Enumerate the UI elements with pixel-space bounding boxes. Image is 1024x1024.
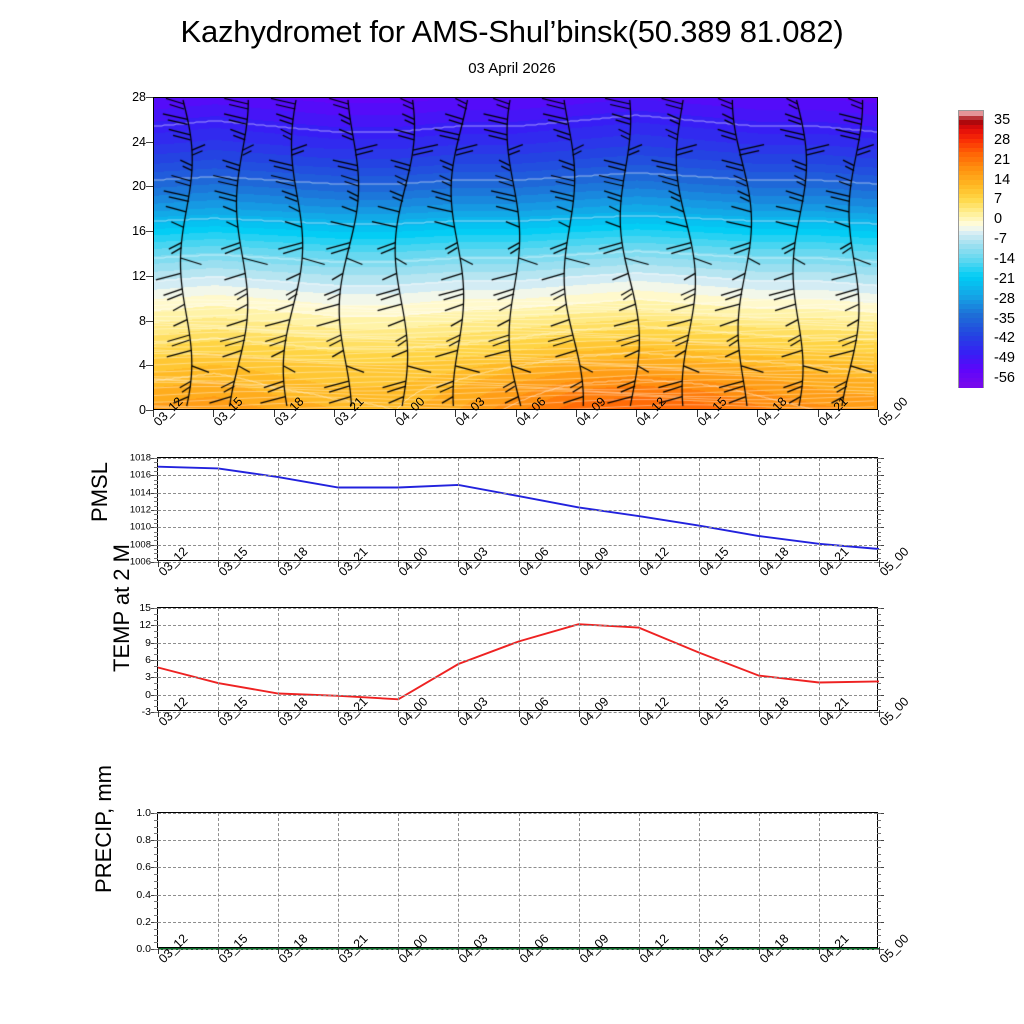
y-tick-minor (154, 881, 158, 882)
y-tick-minor-right (877, 480, 881, 481)
grid-line-v (819, 813, 820, 947)
grid-line-h (158, 510, 877, 511)
y-tick-minor (154, 527, 158, 528)
y-tick-minor-right (877, 471, 881, 472)
x-tick-label-04_09: 04_09 (574, 394, 608, 428)
grid-line-v (338, 458, 339, 560)
y-tick-minor (154, 510, 158, 511)
y-tick-minor (154, 929, 158, 930)
y-tick-minor-right (877, 813, 881, 814)
grid-line-v (218, 608, 219, 710)
grid-line-h (158, 660, 877, 661)
x-tick-label-04_00: 04_00 (393, 394, 427, 428)
grid-line-h (158, 922, 877, 923)
y-tick-minor (154, 683, 158, 684)
grid-line-h (158, 840, 877, 841)
y-tick-label-28: 28 (132, 90, 146, 104)
y-tick-minor (154, 648, 158, 649)
grid-line-h (158, 493, 877, 494)
y-tick-minor (154, 813, 158, 814)
y-tick-mark (146, 97, 153, 98)
y-tick-mark (146, 321, 153, 322)
y-tick-label-1012: 1012 (130, 505, 151, 516)
y-tick-minor (154, 637, 158, 638)
y-tick-minor-right (877, 895, 881, 896)
y-tick-minor-right (877, 514, 881, 515)
y-tick-minor-right (877, 549, 881, 550)
grid-line-v (278, 608, 279, 710)
y-tick-minor (154, 625, 158, 626)
temperature-colorbar (958, 110, 984, 388)
grid-line-h (158, 695, 877, 696)
grid-line-v (759, 608, 760, 710)
grid-line-v (699, 608, 700, 710)
y-tick-minor-right (877, 867, 881, 868)
y-tick-minor-right (877, 643, 881, 644)
grid-line-v (458, 458, 459, 560)
y-tick-minor (154, 540, 158, 541)
temp-axis-label: TEMP at 2 M (109, 544, 135, 672)
y-tick-minor (154, 497, 158, 498)
y-tick-minor (154, 631, 158, 632)
y-tick-minor-right (877, 833, 881, 834)
colorbar-tick-minus49: -49 (994, 350, 1015, 366)
colorbar-tick-7: 7 (994, 191, 1002, 207)
y-tick-minor-right (877, 462, 881, 463)
y-tick-label-1p0: 1.0 (136, 807, 151, 819)
grid-line-h (158, 608, 877, 609)
y-tick-label-16: 16 (132, 224, 146, 238)
y-tick-minor (154, 643, 158, 644)
grid-line-v (458, 608, 459, 710)
colorbar-tick-minus28: -28 (994, 291, 1015, 307)
x-tick-label-04_12: 04_12 (634, 394, 668, 428)
grid-line-v (759, 458, 760, 560)
y-tick-label-0p8: 0.8 (136, 834, 151, 846)
y-tick-minor-right (877, 493, 881, 494)
y-tick-minor-right (877, 683, 881, 684)
y-tick-minor (154, 935, 158, 936)
grid-line-v (398, 608, 399, 710)
y-tick-label-1018: 1018 (130, 453, 151, 464)
grid-line-v (278, 813, 279, 947)
y-tick-minor-right (877, 527, 881, 528)
grid-line-v (579, 458, 580, 560)
y-tick-label-4: 4 (139, 358, 146, 372)
y-tick-minor-right (877, 519, 881, 520)
y-tick-minor-right (877, 672, 881, 673)
y-tick-minor-right (877, 536, 881, 537)
y-tick-minor-right (877, 648, 881, 649)
y-tick-minor (154, 475, 158, 476)
y-tick-minor (154, 620, 158, 621)
y-tick-mark (146, 410, 153, 411)
y-tick-minor (154, 922, 158, 923)
y-tick-label-0p4: 0.4 (136, 889, 151, 901)
y-tick-label-0: 0 (145, 689, 151, 701)
y-tick-minor (154, 847, 158, 848)
y-tick-minor-right (877, 553, 881, 554)
y-tick-minor-right (877, 458, 881, 459)
y-tick-label-3: 3 (145, 671, 151, 683)
y-tick-label-9: 9 (145, 637, 151, 649)
y-tick-label-1016: 1016 (130, 470, 151, 481)
y-tick-mark (146, 186, 153, 187)
grid-line-h (158, 643, 877, 644)
y-tick-minor (154, 523, 158, 524)
grid-line-h (158, 625, 877, 626)
grid-line-h (158, 677, 877, 678)
y-tick-mark (146, 231, 153, 232)
y-tick-minor-right (877, 614, 881, 615)
grid-line-v (398, 813, 399, 947)
y-tick-minor-right (877, 915, 881, 916)
y-tick-minor-right (877, 558, 881, 559)
grid-line-v (639, 813, 640, 947)
y-tick-label-1010: 1010 (130, 522, 151, 533)
y-tick-mark (146, 142, 153, 143)
y-tick-label-minus3: -3 (142, 706, 151, 718)
y-tick-minor (154, 908, 158, 909)
grid-line-v (519, 608, 520, 710)
y-tick-minor (154, 484, 158, 485)
y-tick-minor (154, 820, 158, 821)
colorbar-tick-minus21: -21 (994, 271, 1015, 287)
x-tick-label-03_21: 03_21 (332, 394, 366, 428)
colorbar-tick-14: 14 (994, 172, 1010, 188)
y-tick-minor (154, 514, 158, 515)
y-tick-minor (154, 901, 158, 902)
y-tick-label-0p2: 0.2 (136, 916, 151, 928)
temp-plot[interactable]: -30369121503_1203_1503_1803_2104_0004_03… (157, 607, 878, 711)
y-tick-minor-right (877, 881, 881, 882)
cross-section-axes: 048121620242803_1203_1503_1803_2104_0004… (153, 97, 878, 410)
y-tick-minor (154, 614, 158, 615)
y-tick-minor-right (877, 901, 881, 902)
grid-line-h (158, 475, 877, 476)
y-tick-label-0: 0 (139, 403, 146, 417)
y-tick-minor-right (877, 654, 881, 655)
grid-line-v (278, 458, 279, 560)
x-tick-label-04_03: 04_03 (453, 394, 487, 428)
grid-line-v (819, 608, 820, 710)
y-tick-minor-right (877, 908, 881, 909)
y-tick-label-1014: 1014 (130, 487, 151, 498)
y-tick-label-24: 24 (132, 135, 146, 149)
colorbar-tick-minus14: -14 (994, 251, 1015, 267)
y-tick-minor-right (877, 929, 881, 930)
pmsl-axis-label: PMSL (87, 462, 113, 522)
y-tick-minor (154, 700, 158, 701)
y-tick-minor-right (877, 935, 881, 936)
y-tick-minor (154, 833, 158, 834)
y-tick-minor (154, 506, 158, 507)
colorbar-tick-0: 0 (994, 211, 1002, 227)
colorbar-tick-minus56: -56 (994, 370, 1015, 386)
y-tick-minor (154, 480, 158, 481)
x-tick-label-04_21: 04_21 (816, 394, 850, 428)
y-tick-label-12: 12 (132, 269, 146, 283)
y-tick-mark (146, 365, 153, 366)
y-tick-minor-right (877, 847, 881, 848)
y-tick-minor (154, 501, 158, 502)
y-tick-minor (154, 519, 158, 520)
y-tick-minor-right (877, 532, 881, 533)
y-tick-label-20: 20 (132, 179, 146, 193)
y-tick-minor (154, 695, 158, 696)
y-tick-mark (146, 276, 153, 277)
y-tick-minor (154, 545, 158, 546)
precip-plot[interactable]: 0.00.20.40.60.81.003_1203_1503_1803_2104… (157, 812, 878, 948)
y-tick-minor (154, 861, 158, 862)
y-tick-minor-right (877, 666, 881, 667)
y-tick-minor-right (877, 523, 881, 524)
grid-line-v (759, 813, 760, 947)
y-tick-minor (154, 549, 158, 550)
y-tick-minor (154, 672, 158, 673)
grid-line-h (158, 813, 877, 814)
colorbar-tick-35: 35 (994, 112, 1010, 128)
y-tick-label-8: 8 (139, 314, 146, 328)
y-tick-minor-right (877, 827, 881, 828)
y-tick-minor-right (877, 942, 881, 943)
x-tick-label-04_06: 04_06 (514, 394, 548, 428)
grid-line-h (158, 458, 877, 459)
y-tick-minor-right (877, 861, 881, 862)
colorbar-tick-28: 28 (994, 132, 1010, 148)
page-title: Kazhydromet for AMS-Shul’binsk(50.389 81… (0, 14, 1024, 50)
y-tick-minor-right (877, 497, 881, 498)
y-tick-minor (154, 467, 158, 468)
y-tick-minor (154, 458, 158, 459)
grid-line-h (158, 545, 877, 546)
y-tick-minor-right (877, 510, 881, 511)
x-tick-label-03_15: 03_15 (211, 394, 245, 428)
grid-line-v (579, 813, 580, 947)
x-tick-label-05_00: 05_00 (876, 394, 910, 428)
x-tick-label-04_15: 04_15 (695, 394, 729, 428)
x-tick-label-03_12: 03_12 (151, 394, 185, 428)
y-tick-minor-right (877, 888, 881, 889)
grid-line-v (458, 813, 459, 947)
y-tick-minor (154, 462, 158, 463)
grid-line-v (218, 813, 219, 947)
y-tick-minor-right (877, 922, 881, 923)
y-tick-minor-right (877, 484, 881, 485)
y-tick-minor (154, 677, 158, 678)
y-tick-minor-right (877, 506, 881, 507)
y-tick-minor (154, 895, 158, 896)
grid-line-v (699, 458, 700, 560)
y-tick-minor (154, 553, 158, 554)
grid-line-v (338, 608, 339, 710)
y-tick-minor (154, 888, 158, 889)
y-tick-label-0p0: 0.0 (136, 943, 151, 955)
y-tick-minor (154, 660, 158, 661)
grid-line-v (819, 458, 820, 560)
y-tick-minor-right (877, 620, 881, 621)
grid-line-v (398, 458, 399, 560)
y-tick-minor-right (877, 545, 881, 546)
y-tick-minor (154, 706, 158, 707)
y-tick-minor-right (877, 488, 881, 489)
colorbar-tick-minus7: -7 (994, 231, 1007, 247)
page-subtitle: 03 April 2026 (0, 60, 1024, 77)
y-tick-minor-right (877, 625, 881, 626)
pmsl-plot[interactable]: 100610081010101210141016101803_1203_1503… (157, 457, 878, 561)
y-tick-minor (154, 558, 158, 559)
y-tick-minor (154, 867, 158, 868)
y-tick-minor-right (877, 467, 881, 468)
grid-line-v (218, 458, 219, 560)
grid-line-v (519, 813, 520, 947)
x-tick-label-04_18: 04_18 (755, 394, 789, 428)
y-tick-minor-right (877, 631, 881, 632)
y-tick-label-6: 6 (145, 654, 151, 666)
y-tick-minor (154, 942, 158, 943)
precip-axis-label: PRECIP, mm (91, 765, 117, 893)
y-tick-minor (154, 471, 158, 472)
y-tick-minor (154, 666, 158, 667)
y-tick-minor-right (877, 854, 881, 855)
colorbar-labels: 3528211470-7-14-21-28-35-42-49-56 (994, 110, 1024, 388)
y-tick-minor (154, 493, 158, 494)
y-tick-minor-right (877, 874, 881, 875)
x-tick-label-03_18: 03_18 (272, 394, 306, 428)
grid-line-h (158, 527, 877, 528)
grid-line-h (158, 867, 877, 868)
grid-line-v (699, 813, 700, 947)
y-tick-minor (154, 532, 158, 533)
y-tick-minor-right (877, 706, 881, 707)
y-tick-minor-right (877, 820, 881, 821)
y-tick-minor-right (877, 637, 881, 638)
y-tick-label-15: 15 (139, 602, 151, 614)
y-tick-label-12: 12 (139, 619, 151, 631)
y-tick-minor-right (877, 540, 881, 541)
y-tick-minor (154, 854, 158, 855)
y-tick-minor-right (877, 475, 881, 476)
y-tick-minor (154, 536, 158, 537)
colorbar-tick-minus35: -35 (994, 311, 1015, 327)
grid-line-v (579, 608, 580, 710)
y-tick-minor-right (877, 700, 881, 701)
y-tick-minor (154, 654, 158, 655)
y-tick-minor-right (877, 840, 881, 841)
grid-line-v (639, 458, 640, 560)
grid-line-v (639, 608, 640, 710)
y-tick-minor-right (877, 660, 881, 661)
grid-line-h (158, 895, 877, 896)
y-tick-minor-right (877, 608, 881, 609)
y-tick-minor (154, 608, 158, 609)
colorbar-tick-minus42: -42 (994, 330, 1015, 346)
y-tick-minor (154, 488, 158, 489)
y-tick-minor (154, 689, 158, 690)
y-tick-minor-right (877, 695, 881, 696)
y-tick-minor (154, 874, 158, 875)
y-tick-label-0p6: 0.6 (136, 861, 151, 873)
y-tick-minor (154, 915, 158, 916)
y-tick-minor-right (877, 689, 881, 690)
colorbar-tick-21: 21 (994, 152, 1010, 168)
y-tick-minor-right (877, 501, 881, 502)
grid-line-v (519, 458, 520, 560)
grid-line-v (338, 813, 339, 947)
y-tick-minor-right (877, 677, 881, 678)
y-tick-minor (154, 827, 158, 828)
y-tick-minor (154, 840, 158, 841)
